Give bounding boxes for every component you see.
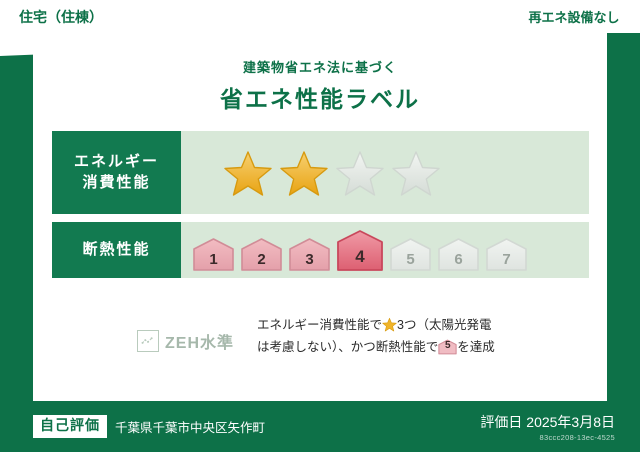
title-block: 建築物省エネ法に基づく 省エネ性能ラベル bbox=[33, 57, 607, 114]
property-address: 千葉県千葉市中央区矢作町 bbox=[115, 417, 265, 436]
page-title: 省エネ性能ラベル bbox=[33, 80, 607, 114]
insulation-grade-badge-active: 4 bbox=[336, 229, 384, 272]
insulation-grade-badge: 3 bbox=[288, 237, 331, 272]
zeh-desc-part1: エネルギー消費性能で bbox=[257, 318, 382, 332]
zeh-standard-block: ZEH水準 エネルギー消費性能で3つ（太陽光発電 は考慮しない）、かつ断熱性能で… bbox=[137, 315, 577, 359]
evaluation-date: 評価日 2025年3月8日 bbox=[480, 412, 615, 432]
star-empty-icon bbox=[391, 149, 441, 197]
renewable-equipment-tab: 再エネ設備なし bbox=[508, 0, 640, 33]
inline-house-badge-number: 5 bbox=[438, 337, 457, 355]
star-empty-icon bbox=[335, 149, 385, 197]
insulation-performance-label-box: 断熱性能 bbox=[52, 222, 181, 278]
insulation-label: 断熱性能 bbox=[82, 240, 150, 260]
inline-house-badge: 5 bbox=[438, 339, 457, 355]
self-evaluation-badge: 自己評価 bbox=[33, 415, 107, 437]
footer-right-group: 評価日 2025年3月8日 83ccc208-13ec-4525 bbox=[480, 412, 615, 442]
zeh-desc-part3: を達成 bbox=[457, 340, 495, 354]
footer-left-group: 自己評価 千葉県千葉市中央区矢作町 bbox=[33, 415, 265, 437]
label-footer: 自己評価 千葉県千葉市中央区矢作町 評価日 2025年3月8日 83ccc208… bbox=[0, 401, 640, 452]
insulation-grade-badge: 1 bbox=[192, 237, 235, 272]
zeh-desc-part2: は考慮しない）、かつ断熱性能で bbox=[257, 340, 438, 354]
insulation-grade-badge: 6 bbox=[437, 237, 480, 272]
energy-performance-value bbox=[181, 131, 589, 214]
zeh-house-icon bbox=[137, 330, 159, 352]
insulation-grade-badge: 5 bbox=[389, 237, 432, 272]
star-filled-icon bbox=[223, 149, 273, 197]
energy-performance-row: エネルギー 消費性能 bbox=[52, 131, 589, 214]
house-badge-active-icon bbox=[336, 229, 384, 272]
insulation-performance-row: 断熱性能 1 bbox=[52, 222, 589, 278]
building-type-label: 住宅（住棟） bbox=[19, 7, 103, 27]
energy-performance-label: 住宅（住棟） 再エネ設備なし 建築物省エネ法に基づく 省エネ性能ラベル エネルギ… bbox=[0, 0, 640, 452]
insulation-grade-badge: 2 bbox=[240, 237, 283, 272]
evaluation-id: 83ccc208-13ec-4525 bbox=[480, 433, 615, 442]
energy-performance-label-box: エネルギー 消費性能 bbox=[52, 131, 181, 214]
house-badge-icon bbox=[437, 237, 480, 272]
building-type-tab: 住宅（住棟） bbox=[0, 0, 122, 33]
inline-star-icon bbox=[382, 317, 397, 332]
star-filled-icon bbox=[279, 149, 329, 197]
renewable-equipment-label: 再エネ設備なし bbox=[528, 7, 619, 26]
insulation-performance-value: 1 2 3 bbox=[181, 222, 589, 278]
zeh-description: エネルギー消費性能で3つ（太陽光発電 は考慮しない）、かつ断熱性能で5を達成 bbox=[257, 315, 577, 359]
label-card: 建築物省エネ法に基づく 省エネ性能ラベル エネルギー 消費性能 bbox=[33, 33, 607, 401]
insulation-grade-badge: 7 bbox=[485, 237, 528, 272]
energy-label-line1: エネルギー bbox=[74, 152, 159, 172]
energy-label-line2: 消費性能 bbox=[82, 173, 150, 193]
insulation-grade-scale: 1 2 3 bbox=[181, 229, 528, 272]
star-rating bbox=[181, 149, 441, 197]
house-badge-icon bbox=[288, 237, 331, 272]
zeh-desc-stars: 3つ（太陽光発電 bbox=[397, 318, 491, 332]
zeh-standard-label: ZEH水準 bbox=[165, 329, 234, 353]
house-badge-icon bbox=[240, 237, 283, 272]
house-badge-icon bbox=[192, 237, 235, 272]
house-badge-icon bbox=[485, 237, 528, 272]
zeh-标题: ZEH水準 bbox=[137, 315, 257, 353]
house-badge-icon bbox=[389, 237, 432, 272]
title-subtitle: 建築物省エネ法に基づく bbox=[33, 57, 607, 76]
